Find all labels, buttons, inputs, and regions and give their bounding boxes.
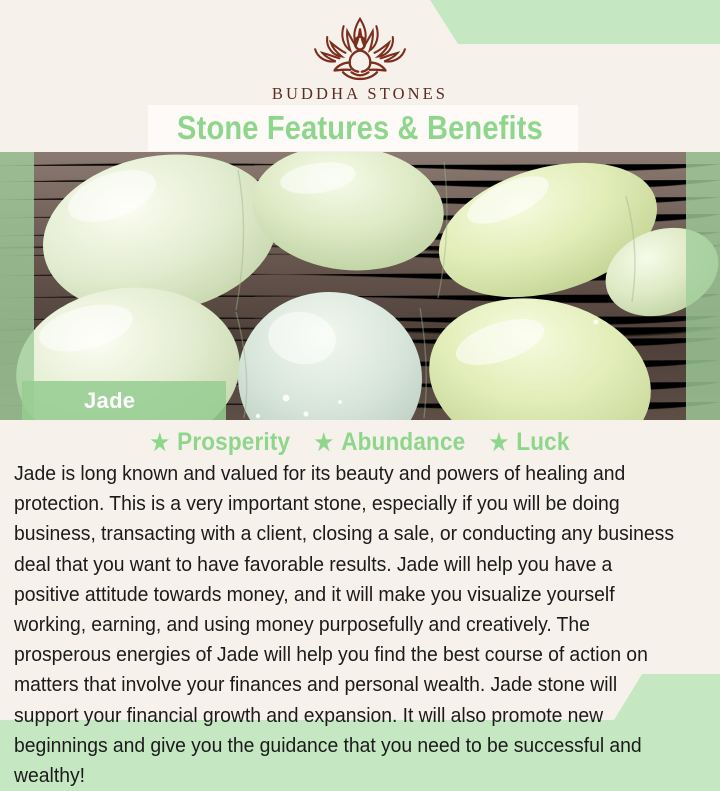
jade-stones-photo: [0, 152, 720, 420]
keyword-luck: Luck: [516, 428, 569, 457]
benefit-keywords: ★ Prosperity ★ Abundance ★ Luck: [36, 428, 684, 457]
star-icon: ★: [490, 431, 509, 454]
lotus-meditation-icon: [299, 14, 421, 82]
stone-name-banner: Jade: [22, 381, 226, 420]
description-paragraph: Jade is long known and valued for its be…: [14, 459, 677, 791]
keyword-abundance: Abundance: [341, 428, 465, 457]
photo-illustration: [0, 152, 720, 420]
stone-name-label: Jade: [84, 388, 135, 414]
brand-logo: BUDDHA STONES: [0, 14, 720, 104]
brand-wordmark: BUDDHA STONES: [272, 84, 448, 104]
star-icon: ★: [150, 431, 169, 454]
photo-edge-strip-right: [686, 152, 720, 420]
photo-edge-strip-left: [0, 152, 34, 420]
star-icon: ★: [315, 431, 334, 454]
page-title: Stone Features & Benefits: [43, 104, 677, 151]
keyword-prosperity: Prosperity: [177, 428, 290, 457]
